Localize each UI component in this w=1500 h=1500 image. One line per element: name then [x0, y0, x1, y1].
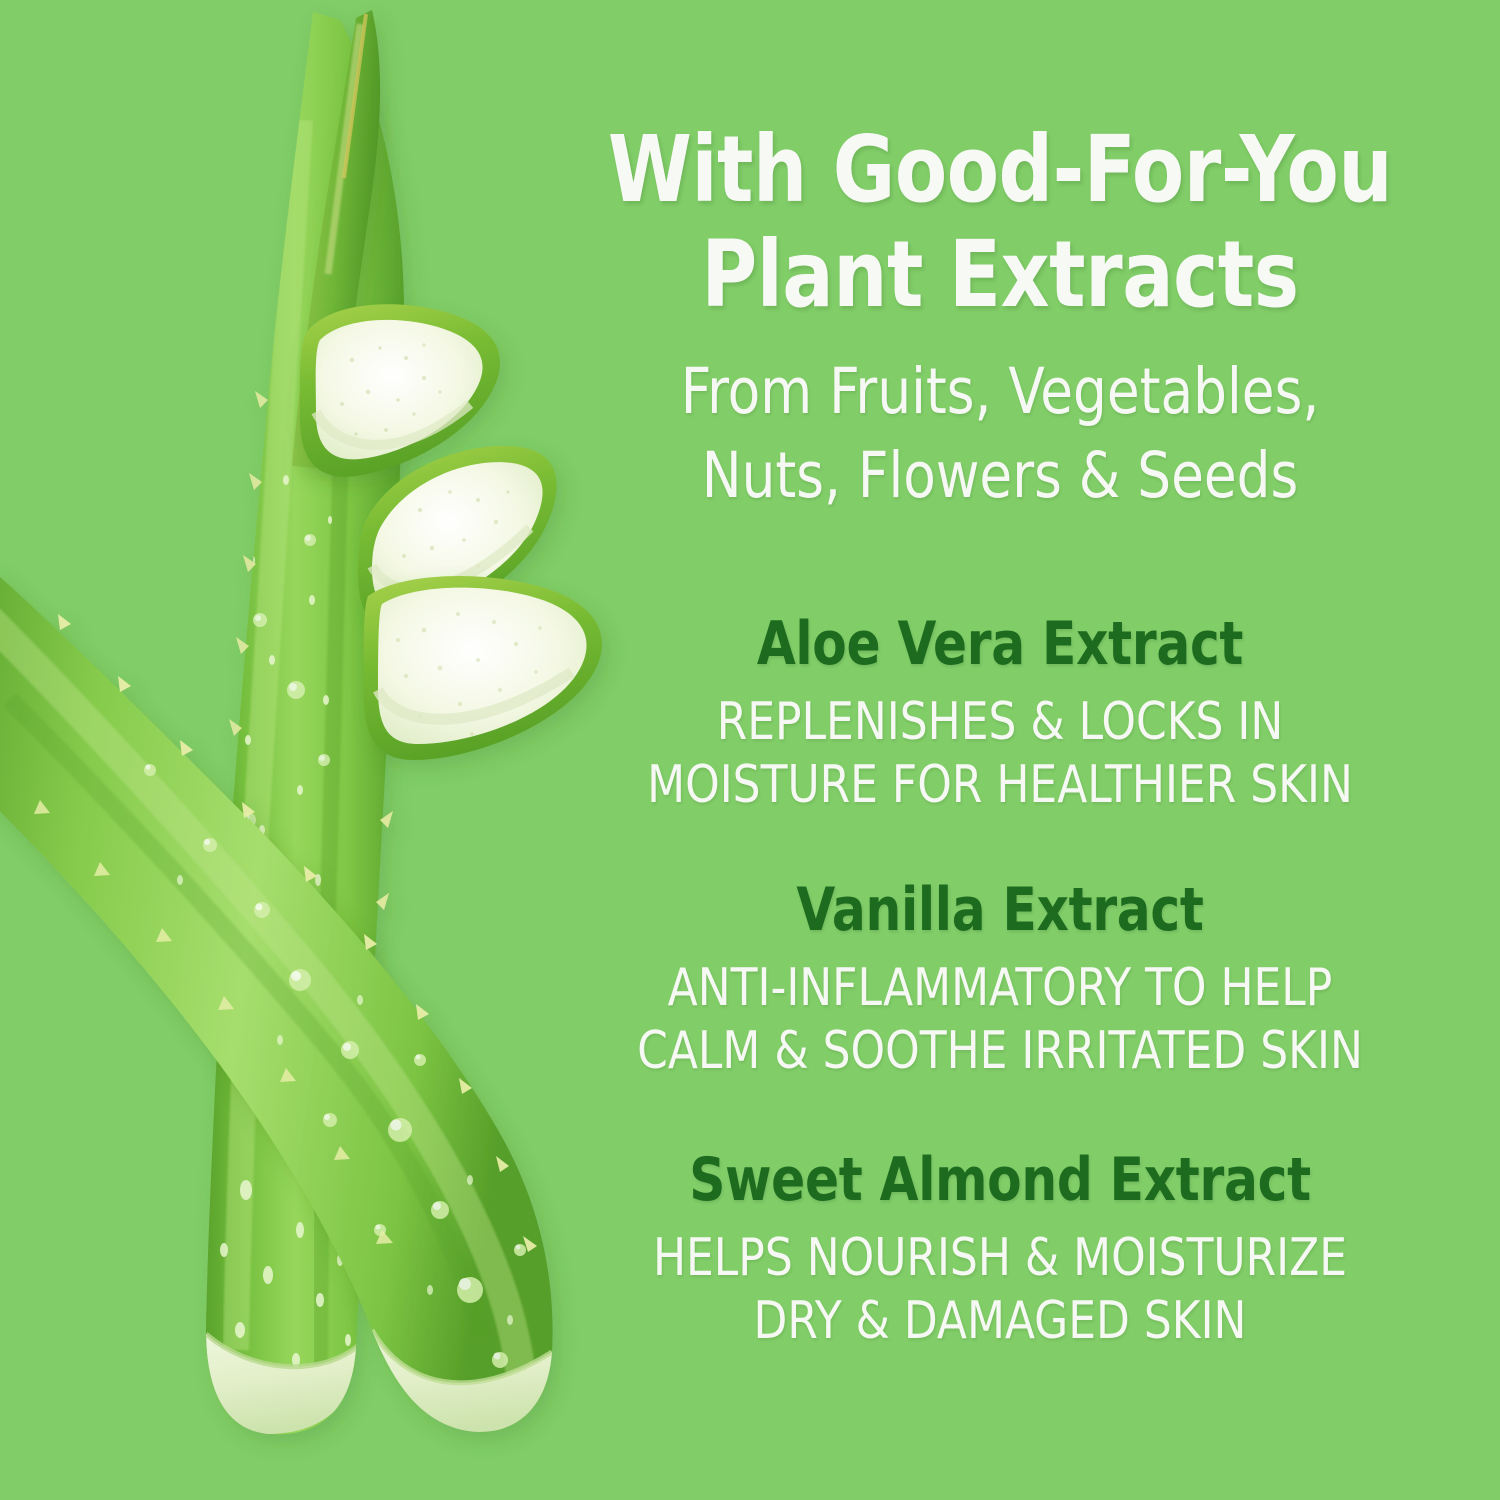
aloe-slice-middle	[358, 446, 557, 629]
ingredient-block-vanilla: Vanilla Extract ANTI-INFLAMMATORY TO HEL…	[560, 878, 1440, 1084]
aloe-leaf-upright	[206, 12, 417, 1434]
subhead-line-1: From Fruits, Vegetables,	[586, 350, 1413, 434]
ingredient-block-sweet-almond: Sweet Almond Extract HELPS NOURISH & MOI…	[560, 1148, 1440, 1354]
product-ingredient-poster: With Good-For-You Plant Extracts From Fr…	[0, 0, 1500, 1500]
ingredient-name: Aloe Vera Extract	[591, 612, 1409, 677]
ingredient-desc-line-2: DRY & DAMAGED SKIN	[586, 1290, 1413, 1353]
aloe-slice-top	[300, 304, 500, 477]
subhead-line-2: Nuts, Flowers & Seeds	[586, 434, 1413, 518]
ingredient-block-aloe-vera: Aloe Vera Extract REPLENISHES & LOCKS IN…	[560, 612, 1440, 818]
copy-column: With Good-For-You Plant Extracts From Fr…	[560, 0, 1440, 1500]
page-title: With Good-For-You Plant Extracts	[595, 118, 1405, 328]
page-subtitle: From Fruits, Vegetables, Nuts, Flowers &…	[586, 350, 1413, 518]
ingredient-description: REPLENISHES & LOCKS IN MOISTURE FOR HEAL…	[586, 691, 1413, 818]
ingredient-name: Vanilla Extract	[591, 878, 1409, 943]
ingredient-desc-line-1: ANTI-INFLAMMATORY TO HELP	[586, 957, 1413, 1020]
headline-line-1: With Good-For-You	[595, 118, 1405, 223]
ingredient-description: HELPS NOURISH & MOISTURIZE DRY & DAMAGED…	[586, 1227, 1413, 1354]
headline-line-2: Plant Extracts	[595, 223, 1405, 328]
aloe-leaf-tip	[292, 10, 380, 470]
ingredient-desc-line-2: MOISTURE FOR HEALTHIER SKIN	[586, 754, 1413, 817]
ingredient-desc-line-1: REPLENISHES & LOCKS IN	[586, 691, 1413, 754]
ingredient-description: ANTI-INFLAMMATORY TO HELP CALM & SOOTHE …	[586, 957, 1413, 1084]
ingredient-desc-line-1: HELPS NOURISH & MOISTURIZE	[586, 1227, 1413, 1290]
aloe-leaf-diagonal	[0, 568, 553, 1434]
ingredient-desc-line-2: CALM & SOOTHE IRRITATED SKIN	[586, 1020, 1413, 1083]
ingredient-name: Sweet Almond Extract	[591, 1148, 1409, 1213]
